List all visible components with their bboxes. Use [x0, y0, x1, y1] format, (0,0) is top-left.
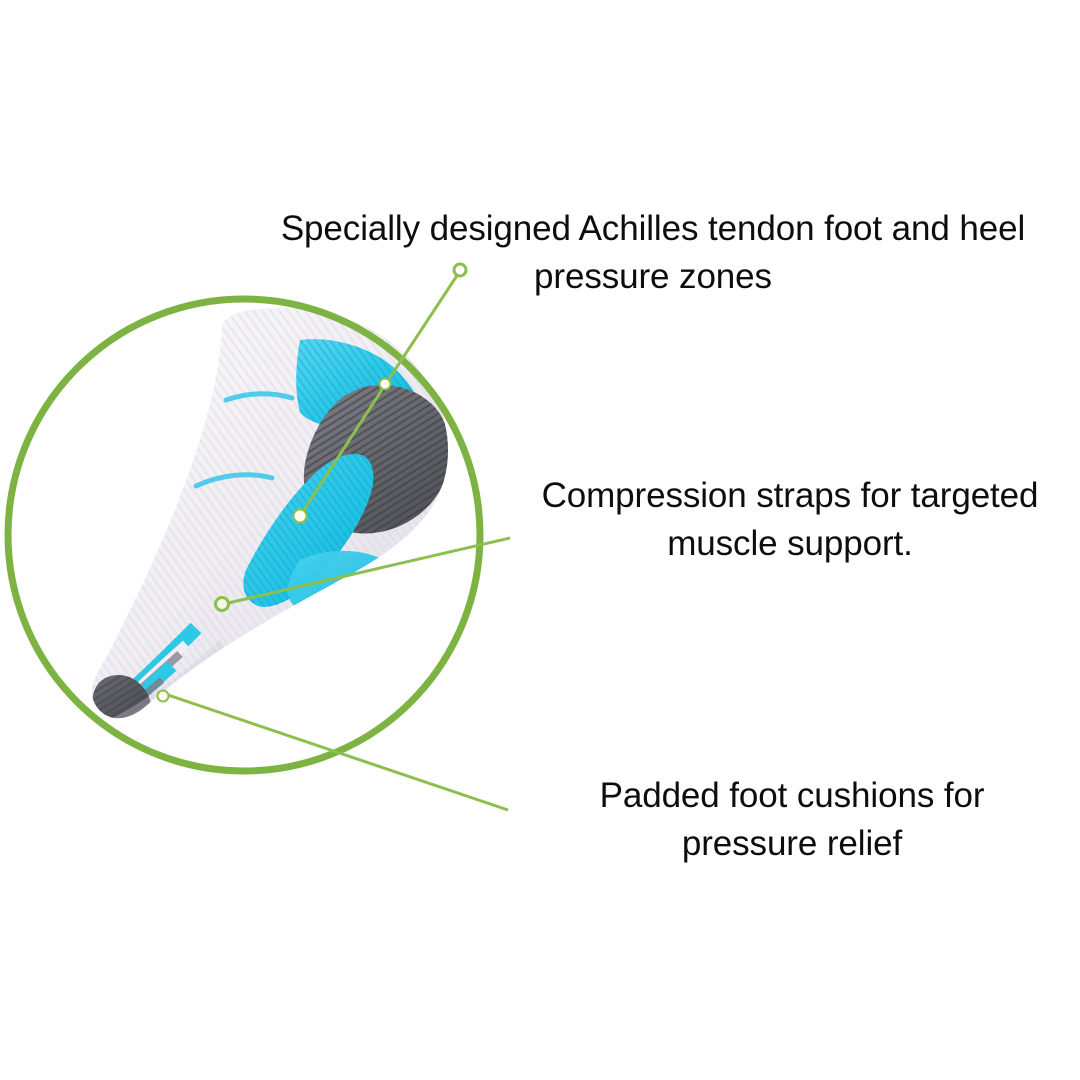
marker-padded-sock-end	[158, 691, 169, 702]
sock-cyan-arch-band	[288, 551, 398, 613]
marker-achilles-sock-end	[380, 379, 391, 390]
sock-highlight	[176, 312, 228, 430]
sock-cyan-accent-line-upper	[226, 394, 292, 400]
leader-line-compression	[224, 538, 510, 604]
infographic-canvas: Specially designed Achilles tendon foot …	[0, 0, 1080, 1080]
leader-line-achilles-extend	[300, 382, 387, 516]
sock-shading	[104, 640, 260, 760]
sock-cyan-strap-rib	[243, 454, 373, 607]
sock-heel-rib	[304, 385, 450, 533]
compression-sock-illustration	[60, 290, 480, 760]
marker-strap-sock-end	[216, 598, 229, 611]
sock-toe-tip	[92, 675, 150, 728]
sock-toe-stripe-bands	[116, 628, 196, 718]
sock-toe-rib	[92, 675, 150, 728]
sock-cyan-achilles-rib	[296, 339, 424, 428]
callout-compression-text: Compression straps for targeted muscle s…	[500, 472, 1080, 567]
sock-cyan-accent-line-lower	[196, 475, 272, 486]
sock-rib-texture	[60, 290, 480, 750]
sock-cyan-compression-strap	[243, 454, 373, 607]
leader-lines	[165, 274, 510, 810]
product-highlight-circle	[8, 299, 480, 771]
marker-compression-sock-end	[294, 510, 307, 523]
callout-padded-text: Padded foot cushions for pressure relief	[528, 772, 1056, 867]
sock-cyan-achilles-panel	[296, 339, 424, 428]
callout-achilles-text: Specially designed Achilles tendon foot …	[248, 205, 1058, 300]
leader-markers	[158, 264, 467, 702]
sock-body	[92, 308, 448, 718]
sock-heel-cup	[304, 385, 450, 533]
leader-line-padded	[165, 694, 508, 810]
